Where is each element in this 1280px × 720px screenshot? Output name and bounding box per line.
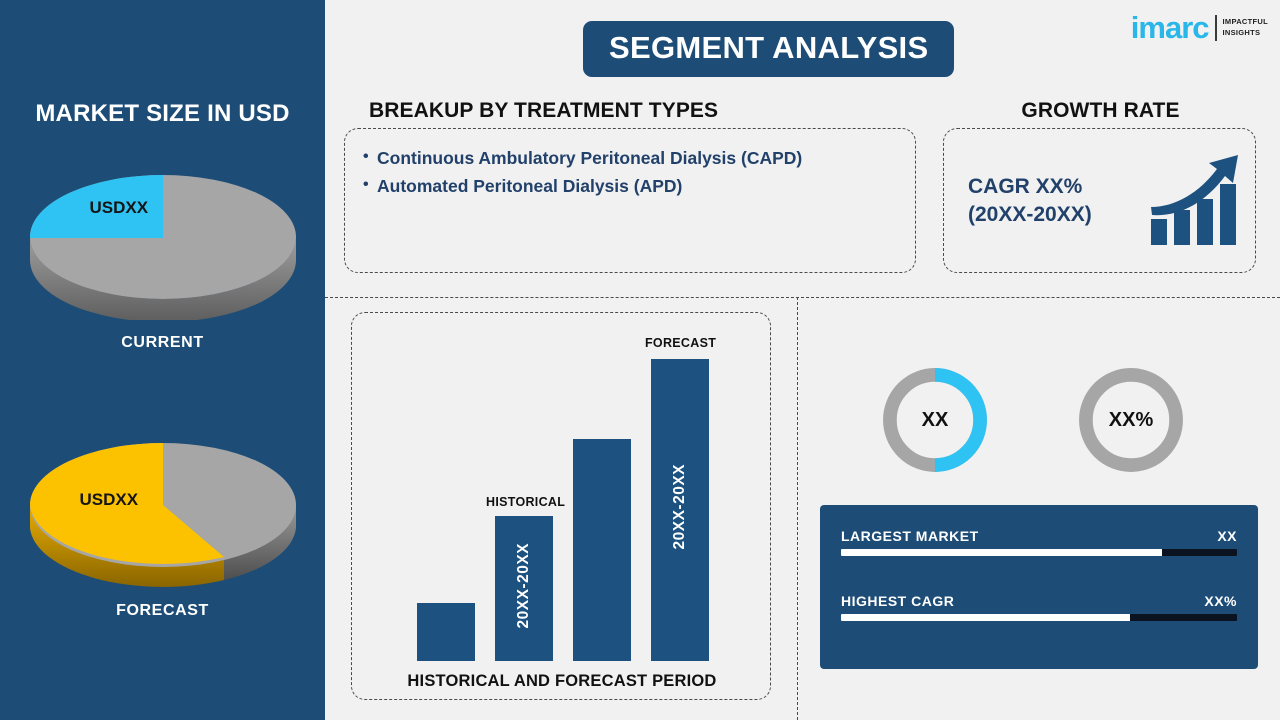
imarc-logo: imarc IMPACTFUL INSIGHTS xyxy=(1118,12,1268,56)
stat-value: XX% xyxy=(1204,593,1237,609)
logo-tagline-line2: INSIGHTS xyxy=(1223,28,1268,39)
bar-4-label: 20XX-20XX xyxy=(671,464,689,550)
logo-wordmark: imarc xyxy=(1131,12,1209,43)
cagr-line-1: CAGR XX% xyxy=(968,173,1092,201)
breakup-box: Continuous Ambulatory Peritoneal Dialysi… xyxy=(344,128,916,273)
stat-label: HIGHEST CAGR xyxy=(841,593,954,609)
pie-current-caption: CURRENT xyxy=(0,334,325,352)
cagr-text: CAGR XX% (20XX-20XX) xyxy=(968,173,1092,230)
horizontal-divider xyxy=(325,297,1280,298)
pie-forecast-caption: FORECAST xyxy=(0,602,325,620)
bar-4: 20XX-20XX xyxy=(651,359,709,661)
cagr-line-2: (20XX-20XX) xyxy=(968,201,1092,229)
stats-card: LARGEST MARKET XX HIGHEST CAGR XX% xyxy=(820,505,1258,669)
growth-box: CAGR XX% (20XX-20XX) xyxy=(943,128,1256,273)
breakup-list: Continuous Ambulatory Peritoneal Dialysi… xyxy=(345,129,915,200)
bar-chart-box: 20XX-20XX 20XX-20XX HISTORICAL FORECAST … xyxy=(351,312,771,700)
pie-forecast-svg xyxy=(28,428,298,588)
bar-chart-area: 20XX-20XX 20XX-20XX HISTORICAL FORECAST … xyxy=(352,313,772,701)
pie-forecast-label: USDXX xyxy=(80,490,139,510)
bar-1 xyxy=(417,603,475,661)
pie-block-current: USDXX CURRENT xyxy=(0,160,325,352)
bar-2-label: 20XX-20XX xyxy=(515,543,533,629)
pie-chart-current: USDXX xyxy=(28,160,298,320)
vertical-divider xyxy=(797,297,798,720)
main-panel: SEGMENT ANALYSIS imarc IMPACTFUL INSIGHT… xyxy=(325,0,1280,720)
donut-1-center-label: XX xyxy=(879,364,991,476)
stat-label: LARGEST MARKET xyxy=(841,528,979,544)
list-item: Continuous Ambulatory Peritoneal Dialysi… xyxy=(363,145,901,173)
bar-3 xyxy=(573,439,631,661)
sidebar-panel: MARKET SIZE IN USD xyxy=(0,0,325,720)
progress-fill xyxy=(841,549,1162,556)
breakup-heading: BREAKUP BY TREATMENT TYPES xyxy=(369,99,718,123)
header-bar: SEGMENT ANALYSIS imarc IMPACTFUL INSIGHT… xyxy=(325,0,1280,92)
stat-value: XX xyxy=(1217,528,1237,544)
pie-block-forecast: USDXX FORECAST xyxy=(0,428,325,620)
stat-row-highest-cagr: HIGHEST CAGR XX% xyxy=(841,593,1237,621)
pie-current-label: USDXX xyxy=(90,198,149,218)
bar-2: 20XX-20XX xyxy=(495,516,553,661)
growth-arrow-bars-icon xyxy=(1149,149,1241,249)
logo-tagline-line1: IMPACTFUL xyxy=(1223,17,1268,28)
stat-row-largest-market: LARGEST MARKET XX xyxy=(841,528,1237,556)
pie-chart-forecast: USDXX xyxy=(28,428,298,588)
forecast-annotation: FORECAST xyxy=(645,336,716,350)
logo-divider xyxy=(1215,15,1217,41)
infographic-root: MARKET SIZE IN USD xyxy=(0,0,1280,720)
progress-track xyxy=(841,549,1237,556)
list-item: Automated Peritoneal Dialysis (APD) xyxy=(363,173,901,201)
historical-annotation: HISTORICAL xyxy=(486,495,565,509)
bar-chart-caption: HISTORICAL AND FORECAST PERIOD xyxy=(352,672,772,691)
progress-track xyxy=(841,614,1237,621)
growth-heading: GROWTH RATE xyxy=(943,99,1258,123)
sidebar-title: MARKET SIZE IN USD xyxy=(0,100,325,128)
donut-chart-1: XX xyxy=(879,364,991,476)
pie-current-svg xyxy=(28,160,298,320)
donut-2-center-label: XX% xyxy=(1075,364,1187,476)
progress-fill xyxy=(841,614,1130,621)
page-title: SEGMENT ANALYSIS xyxy=(583,21,954,77)
donut-chart-2: XX% xyxy=(1075,364,1187,476)
